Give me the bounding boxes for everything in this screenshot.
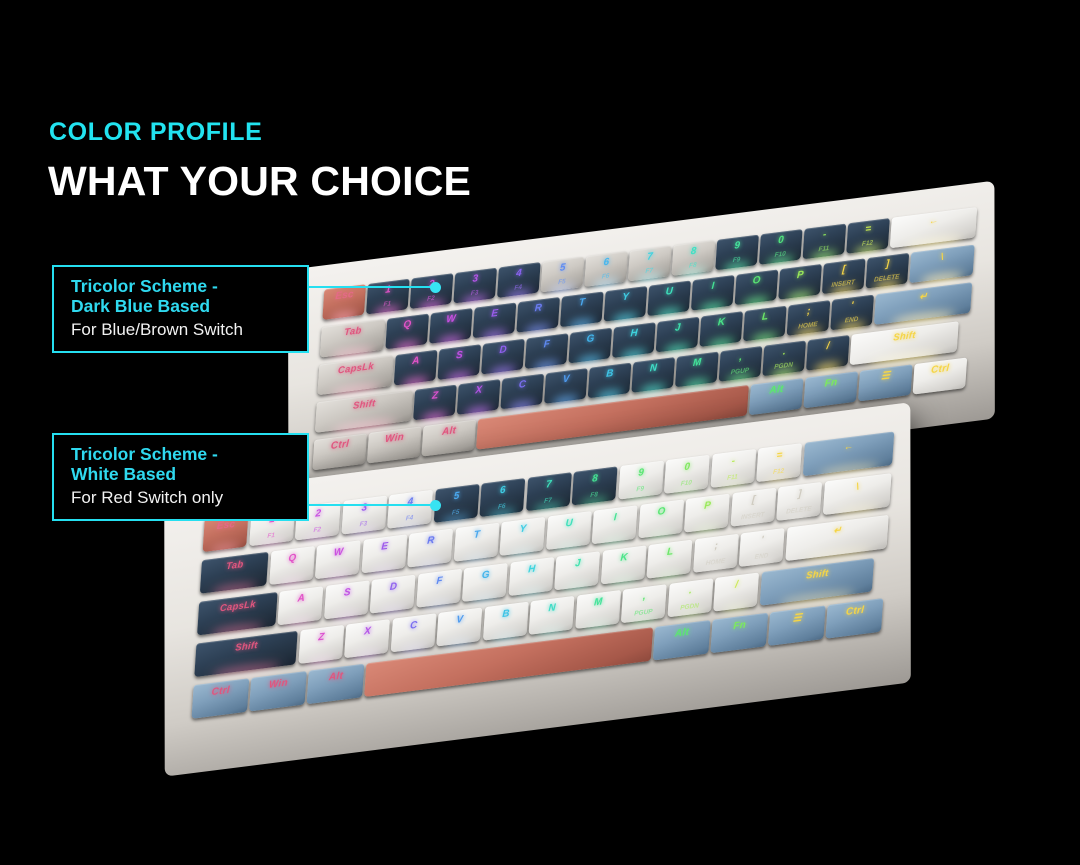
keycap--r0c11[interactable]: -F11 — [710, 449, 756, 488]
keycap-sublegend: END — [739, 551, 783, 563]
connector-line — [309, 286, 433, 288]
keycap-legend: , — [622, 589, 666, 605]
keycap-0-r0c10[interactable]: 0F10 — [759, 229, 802, 265]
keycap-legend: V — [438, 612, 482, 628]
keycap-legend: G — [464, 568, 508, 584]
keycap-t-r1c5[interactable]: T — [454, 523, 500, 562]
keycap-legend: Ctrl — [914, 362, 967, 379]
keycap-legend: C — [501, 378, 543, 393]
keycap-3-r0c3[interactable]: 3F3 — [341, 496, 387, 535]
keycap--r3c10[interactable]: / — [806, 335, 849, 371]
keycap-legend: R — [517, 301, 559, 316]
keycap-legend: ; — [694, 538, 738, 554]
keycap-i-r1c8[interactable]: I — [592, 505, 638, 544]
keycap-legend: . — [668, 583, 712, 599]
keycap-legend: D — [482, 343, 524, 358]
keycap-6-r0c6[interactable]: 6F6 — [479, 478, 525, 517]
keycap-a-r2c1[interactable]: A — [394, 350, 437, 386]
keycap-legend: 6 — [585, 255, 627, 270]
keycap-sublegend: F1 — [249, 530, 293, 542]
keycap-h-r2c6[interactable]: H — [612, 322, 655, 358]
keycap-legend: 9 — [619, 465, 663, 481]
keycap-legend: S — [325, 585, 369, 601]
keycap-legend: 5 — [542, 261, 584, 276]
keycap-q-r1c1[interactable]: Q — [385, 314, 428, 350]
keycap-w-r1c2[interactable]: W — [315, 540, 361, 579]
keycap-u-r1c7[interactable]: U — [546, 511, 592, 550]
keycap-legend: E — [474, 307, 516, 322]
keycap-legend: [ — [732, 492, 776, 508]
keycap-legend: P — [779, 268, 821, 283]
keycap-legend: M — [576, 595, 620, 611]
keycap-l-r2c9[interactable]: L — [743, 306, 786, 342]
keycap-m-r3c7[interactable]: M — [675, 352, 718, 388]
keycap-legend: M — [676, 356, 718, 371]
keycap-sublegend: PGUP — [719, 366, 761, 378]
keycap-o-r1c9[interactable]: O — [735, 269, 778, 305]
connector-dot — [430, 282, 441, 293]
keycap-sublegend: F5 — [541, 277, 583, 289]
keycap-legend: , — [720, 350, 762, 365]
keycap-4-r0c4[interactable]: 4F4 — [497, 262, 540, 298]
keycap-legend: Alt — [423, 424, 476, 441]
keycap-sublegend: PGDN — [763, 361, 805, 373]
keycap-legend: Esc — [323, 289, 365, 304]
keycap-legend: T — [561, 296, 603, 311]
keycap-legend: Z — [299, 630, 343, 646]
keycap-legend: F — [417, 573, 461, 589]
callout-title: Tricolor Scheme - White Based — [71, 444, 291, 485]
keycap-e-r1c3[interactable]: E — [361, 534, 407, 573]
keycap-legend: V — [545, 372, 587, 387]
keycap-legend: 3 — [342, 500, 386, 516]
callout-title: Tricolor Scheme - Dark Blue Based — [71, 276, 291, 317]
keycap-legend: - — [711, 454, 755, 470]
keycap-legend: CapsLk — [318, 360, 393, 379]
keycap-legend: 5 — [434, 489, 478, 505]
keycap-f-r2c4[interactable]: F — [416, 569, 462, 608]
keycap-legend: Win — [250, 676, 306, 693]
keycap-legend: Win — [368, 431, 421, 448]
keycap-legend: Q — [270, 551, 314, 567]
keycap--r0c12[interactable]: =F12 — [756, 443, 802, 482]
keycap-legend: E — [363, 539, 407, 555]
keycap-s-r2c2[interactable]: S — [437, 344, 480, 380]
keycap--r3c8[interactable]: ,PGUP — [719, 346, 762, 382]
keycap-6-r0c6[interactable]: 6F6 — [584, 251, 627, 287]
keycap-v-r3c4[interactable]: V — [544, 368, 587, 404]
keycap-legend: I — [692, 279, 734, 294]
keycap-sublegend: F4 — [387, 513, 431, 525]
keycap-c-r3c3[interactable]: C — [500, 374, 543, 410]
keycap--r3c10[interactable]: / — [713, 573, 759, 612]
keycap-e-r1c3[interactable]: E — [473, 303, 516, 339]
keycap-legend: Tab — [321, 323, 385, 341]
keycap-legend: 6 — [481, 483, 525, 499]
keycap-c-r3c3[interactable]: C — [390, 613, 436, 652]
keycap-legend: N — [530, 601, 574, 617]
keycap-1-r0c1[interactable]: 1F1 — [366, 279, 409, 315]
keycap-legend: ' — [831, 299, 873, 314]
keycap-legend: Y — [501, 522, 545, 538]
keycap--r1c12[interactable]: ]DELETE — [865, 253, 908, 289]
keycap-sublegend: F11 — [710, 472, 754, 484]
keycap-legend: ☰ — [769, 610, 825, 627]
keycap-j-r2c7[interactable]: J — [656, 317, 699, 353]
keycap-w-r1c2[interactable]: W — [429, 308, 472, 344]
keycap-h-r2c6[interactable]: H — [508, 557, 554, 596]
keycap-legend: J — [556, 556, 600, 572]
page-title: WHAT YOUR CHOICE — [48, 158, 471, 205]
keycap-9-r0c9[interactable]: 9F9 — [618, 461, 664, 500]
keycap-d-r2c3[interactable]: D — [481, 339, 524, 375]
keycap-legend: A — [395, 354, 437, 369]
keycap-legend: U — [648, 285, 690, 300]
keycap-legend: . — [763, 345, 805, 360]
keycap-l-r2c9[interactable]: L — [647, 540, 693, 579]
callout-dark-blue: Tricolor Scheme - Dark Blue Based For Bl… — [52, 265, 309, 353]
keycap-x-r3c2[interactable]: X — [344, 619, 390, 658]
keycap-sublegend: F12 — [756, 466, 800, 478]
keycap-legend: B — [589, 367, 631, 382]
keycap-legend: K — [700, 315, 742, 330]
keycap-legend: W — [316, 545, 360, 561]
keycap-legend: 8 — [673, 244, 715, 259]
keycap-x-r3c2[interactable]: X — [457, 379, 500, 415]
keycap--r3c9[interactable]: .PGDN — [762, 341, 805, 377]
keycap-y-r1c6[interactable]: Y — [604, 286, 647, 322]
keycap-5-r0c5[interactable]: 5F5 — [541, 257, 584, 293]
keycap-7-r0c7[interactable]: 7F7 — [628, 246, 671, 282]
keycap-legend: / — [714, 577, 758, 593]
keycap-legend: 8 — [573, 471, 617, 487]
keycap--r2c11[interactable]: 'END — [739, 528, 785, 567]
keycap--r2c10[interactable]: ;HOME — [787, 300, 830, 336]
keycap-z-r3c1[interactable]: Z — [413, 385, 456, 421]
keycap-legend: 9 — [716, 239, 758, 254]
keycap-legend: O — [639, 504, 683, 520]
keycap-legend: Z — [414, 389, 456, 404]
keycap-legend: [ — [823, 263, 865, 278]
keycap-legend: Y — [605, 290, 647, 305]
keycap-s-r2c2[interactable]: S — [324, 580, 370, 619]
keycap-sublegend: F7 — [526, 495, 570, 507]
keycap-legend: 0 — [760, 233, 802, 248]
keycap-legend: X — [458, 383, 500, 398]
keycap-g-r2c5[interactable]: G — [462, 563, 508, 602]
keycap-legend: Tab — [201, 556, 268, 574]
keycap-legend: D — [371, 579, 415, 595]
keycap-8-r0c8[interactable]: 8F8 — [572, 466, 618, 505]
keycap--r0c12[interactable]: =F12 — [846, 218, 889, 254]
keycap-sublegend: HOME — [693, 557, 737, 569]
keycap-i-r1c8[interactable]: I — [691, 275, 734, 311]
keycap-sublegend: F3 — [454, 288, 496, 300]
keycap-sublegend: F9 — [715, 255, 757, 267]
keycap-y-r1c6[interactable]: Y — [500, 517, 546, 556]
keycap-legend: 4 — [388, 494, 432, 510]
keycap-legend: = — [847, 222, 889, 237]
keycap-t-r1c5[interactable]: T — [560, 292, 603, 328]
keycap-legend: R — [409, 533, 453, 549]
keycap-o-r1c9[interactable]: O — [638, 499, 684, 538]
keycap-legend: Ctrl — [827, 603, 883, 620]
keycap-a-r2c1[interactable]: A — [278, 586, 324, 625]
keycap-legend: I — [593, 510, 637, 526]
keycap--r0c11[interactable]: -F11 — [803, 224, 846, 260]
keycap-sublegend: END — [831, 315, 873, 327]
keycap-sublegend: F2 — [295, 524, 339, 536]
keycap-d-r2c3[interactable]: D — [370, 575, 416, 614]
keycap-legend: S — [438, 349, 480, 364]
keycap-legend: K — [602, 550, 646, 566]
keycap-b-r3c5[interactable]: B — [588, 363, 631, 399]
keycap-sublegend: F6 — [480, 501, 524, 513]
keycap-sublegend: F12 — [846, 238, 888, 250]
keycap-legend: O — [736, 274, 778, 289]
keycap--r1c12[interactable]: ]DELETE — [776, 482, 822, 521]
keycap-legend: 0 — [665, 459, 709, 475]
keycap-sublegend: INSERT — [822, 279, 864, 291]
keycap-sublegend: F2 — [410, 293, 452, 305]
keycap--r2c11[interactable]: 'END — [830, 295, 873, 331]
keycap-legend: U — [547, 516, 591, 532]
keycap-sublegend: F4 — [497, 282, 539, 294]
keycap-p-r1c10[interactable]: P — [684, 494, 730, 533]
keycap-legend: 7 — [527, 477, 571, 493]
keycap-legend: B — [484, 606, 528, 622]
keycap-9-r0c9[interactable]: 9F9 — [715, 235, 758, 271]
keycap-sublegend: F3 — [341, 518, 385, 530]
keycap-3-r0c3[interactable]: 3F3 — [453, 268, 496, 304]
keycap--r3c9[interactable]: .PGDN — [667, 578, 713, 617]
keycap-sublegend: F8 — [572, 489, 616, 501]
keycap-n-r3c6[interactable]: N — [631, 357, 674, 393]
callout-white: Tricolor Scheme - White Based For Red Sw… — [52, 433, 309, 521]
keycap-legend: G — [569, 332, 611, 347]
section-eyebrow: COLOR PROFILE — [49, 118, 262, 147]
keycap-sublegend: PGDN — [667, 601, 711, 613]
keycap-legend: P — [685, 498, 729, 514]
keycap-legend: C — [392, 618, 436, 634]
keycap-g-r2c5[interactable]: G — [568, 328, 611, 364]
keycap-p-r1c10[interactable]: P — [778, 264, 821, 300]
keycap-b-r3c5[interactable]: B — [483, 602, 529, 641]
keycap-esc-r0c0[interactable]: Esc — [322, 284, 365, 320]
keycap-sublegend: INSERT — [731, 511, 775, 523]
keycap-sublegend: F9 — [618, 484, 662, 496]
keycap-j-r2c7[interactable]: J — [555, 551, 601, 590]
keycap-legend: 3 — [454, 272, 496, 287]
keycap-legend: A — [279, 591, 323, 607]
keycap-legend: \ — [824, 478, 891, 496]
keycap-sublegend: F7 — [628, 266, 670, 278]
keycap-legend: Fn — [712, 617, 768, 634]
keycap-legend: \ — [910, 249, 974, 267]
keycap-sublegend: F10 — [759, 249, 801, 261]
keycap--r1c11[interactable]: [INSERT — [730, 488, 776, 527]
keycap-legend: Fn — [805, 376, 858, 393]
keycap-sublegend: PGUP — [621, 607, 665, 619]
keycap--r3c8[interactable]: ,PGUP — [621, 584, 667, 623]
keycap-8-r0c8[interactable]: 8F8 — [672, 240, 715, 276]
keycap-z-r3c1[interactable]: Z — [298, 625, 344, 664]
keycap--r1c11[interactable]: [INSERT — [822, 258, 865, 294]
keycap-legend: T — [455, 527, 499, 543]
keycap-m-r3c7[interactable]: M — [575, 590, 621, 629]
keycap-k-r2c8[interactable]: K — [601, 545, 647, 584]
keycap-legend: ☰ — [859, 369, 912, 386]
keycap-legend: L — [744, 310, 786, 325]
keycap-n-r3c6[interactable]: N — [529, 596, 575, 635]
keycap-legend: = — [757, 448, 801, 464]
keycap-7-r0c7[interactable]: 7F7 — [525, 472, 571, 511]
keycap-legend: L — [648, 544, 692, 560]
keycap-sublegend: F6 — [584, 271, 626, 283]
keycap-sublegend: F8 — [672, 260, 714, 272]
callout-subtitle: For Blue/Brown Switch — [71, 319, 291, 340]
keycap-legend: - — [804, 228, 846, 243]
keycap-q-r1c1[interactable]: Q — [269, 546, 315, 585]
keycap-sublegend: HOME — [787, 320, 829, 332]
keycap-legend: J — [657, 321, 699, 336]
keycap-sublegend: F1 — [366, 299, 408, 311]
callout-subtitle: For Red Switch only — [71, 487, 291, 508]
keycap-0-r0c10[interactable]: 0F10 — [664, 455, 710, 494]
keycap-sublegend: F10 — [664, 478, 708, 490]
keycap-sublegend: DELETE — [777, 505, 821, 517]
keycap-legend: Alt — [654, 625, 710, 642]
keycap-legend: H — [613, 327, 655, 342]
keycap-sublegend: F11 — [803, 244, 845, 256]
keycap-legend: CapsLk — [198, 597, 277, 617]
keycap-legend: ] — [778, 487, 822, 503]
keycap-r-r1c4[interactable]: R — [516, 297, 559, 333]
keycap-legend: 7 — [629, 250, 671, 265]
keycap-v-r3c4[interactable]: V — [436, 607, 482, 646]
keycap-legend: ; — [788, 304, 830, 319]
keycap-legend: H — [510, 562, 554, 578]
keycap-legend: 4 — [498, 266, 540, 281]
keycap-4-r0c4[interactable]: 4F4 — [387, 490, 433, 529]
keycap-legend: / — [807, 339, 849, 354]
keycap-sublegend: DELETE — [866, 273, 908, 285]
connector-dot — [430, 500, 441, 511]
keycap-legend: W — [430, 312, 472, 327]
keycap-legend: Alt — [750, 382, 803, 399]
keycap-legend: ' — [740, 533, 784, 549]
keycap-legend: Q — [386, 318, 428, 333]
keycap-k-r2c8[interactable]: K — [699, 311, 742, 347]
keycap-r-r1c4[interactable]: R — [407, 528, 453, 567]
keycap-u-r1c7[interactable]: U — [647, 281, 690, 317]
keycap-legend: Ctrl — [313, 438, 366, 455]
keycap-f-r2c4[interactable]: F — [525, 333, 568, 369]
keycap-legend: F — [526, 338, 568, 353]
keycap-legend: N — [632, 361, 674, 376]
connector-line — [309, 504, 433, 506]
keycap-legend: Alt — [308, 668, 364, 685]
keycap-sublegend: F5 — [433, 507, 477, 519]
keycap--r2c10[interactable]: ;HOME — [693, 534, 739, 573]
keycap-legend: Ctrl — [193, 683, 249, 700]
keycap-legend: ] — [867, 257, 909, 272]
keycap-legend: X — [345, 624, 389, 640]
